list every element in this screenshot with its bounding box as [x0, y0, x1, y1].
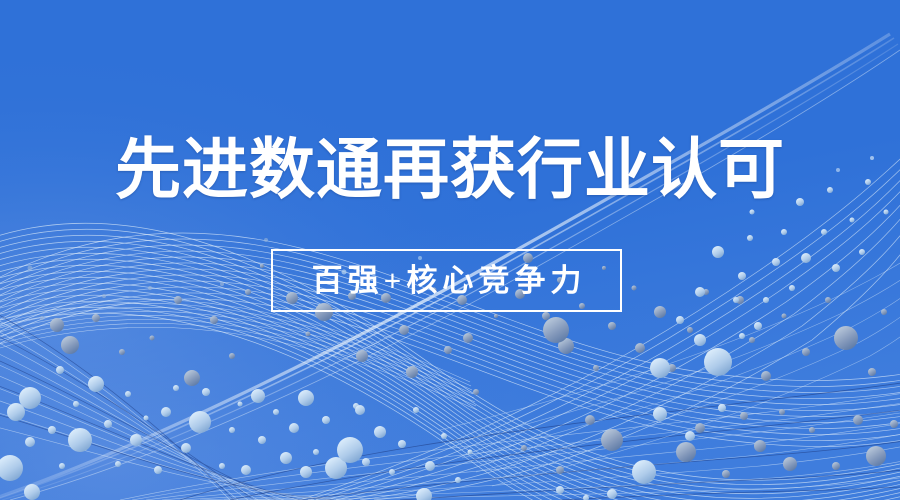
subtitle-text: 百强+核心竞争力	[307, 265, 587, 296]
banner-content: 先进数通再获行业认可 百强+核心竞争力	[0, 0, 900, 500]
subtitle-badge: 百强+核心竞争力	[271, 249, 622, 312]
page-title: 先进数通再获行业认可	[0, 138, 900, 204]
promo-banner: 先进数通再获行业认可 百强+核心竞争力	[0, 0, 900, 500]
